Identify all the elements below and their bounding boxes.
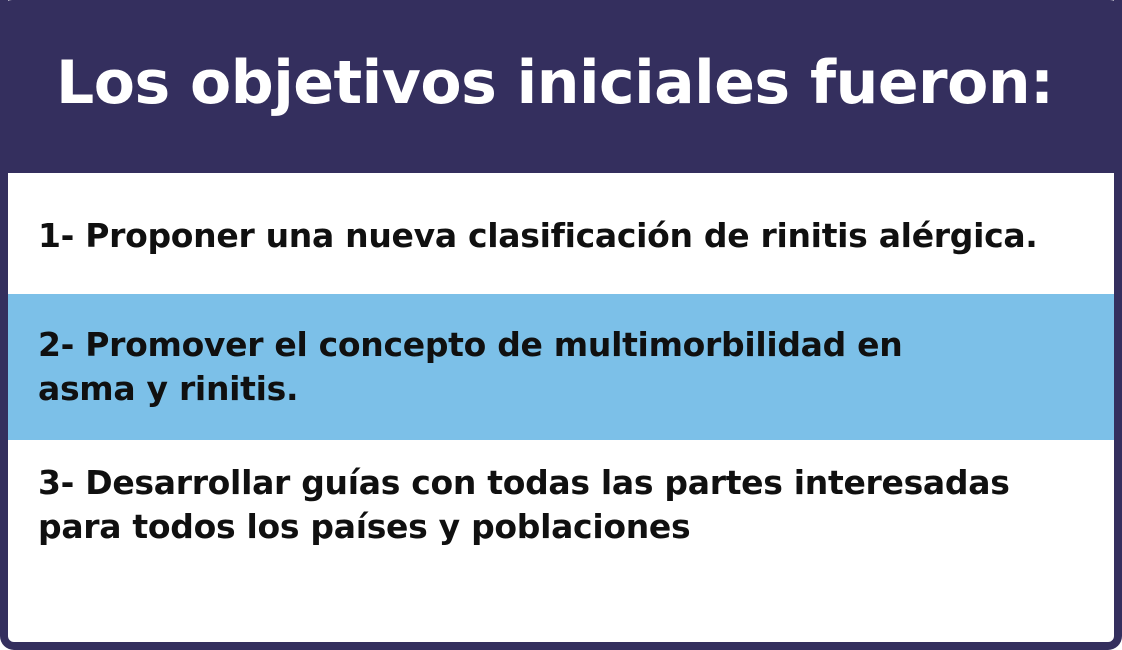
slide-header: Los objetivos iniciales fueron: xyxy=(0,0,1122,173)
objectives-list: 1- Proponer una nueva clasificación de r… xyxy=(8,173,1114,642)
objective-text-2: 2- Promover el concepto de multimorbilid… xyxy=(38,323,988,410)
slide-root: Los objetivos iniciales fueron: 1- Propo… xyxy=(0,0,1122,650)
objective-text-3: 3- Desarrollar guías con todas las parte… xyxy=(38,461,1048,548)
list-item: 2- Promover el concepto de multimorbilid… xyxy=(8,294,1114,440)
list-bottom-spacer xyxy=(8,570,1114,642)
list-item: 1- Proponer una nueva clasificación de r… xyxy=(8,173,1114,294)
list-item: 3- Desarrollar guías con todas las parte… xyxy=(8,440,1114,570)
page-title: Los objetivos iniciales fueron: xyxy=(56,52,1054,115)
objective-text-1: 1- Proponer una nueva clasificación de r… xyxy=(38,214,1038,258)
